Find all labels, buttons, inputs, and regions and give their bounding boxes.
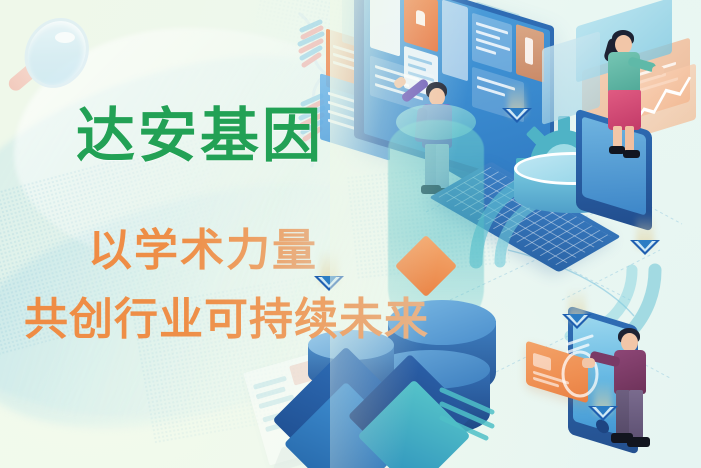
- figure-leg-left: [616, 390, 630, 436]
- tagline-line-2: 共创行业可持续未来: [24, 283, 429, 347]
- chevron-marker-icon: [502, 100, 532, 134]
- chevron-marker-icon: [630, 232, 660, 266]
- man-with-phone-figure: [606, 328, 660, 452]
- figure-shoe-right: [623, 150, 640, 158]
- woman-with-screens-figure: [598, 30, 654, 158]
- chevron-marker-icon: [562, 306, 592, 340]
- figure-leg-right: [629, 390, 643, 438]
- isometric-illustration: [330, 0, 701, 468]
- motion-streaks: [438, 382, 528, 442]
- promotional-banner: 达安基因 以学术力量 共创行业可持续未来: [0, 0, 701, 468]
- chevron-marker-icon: [588, 398, 618, 432]
- page-title: 达安基因: [76, 104, 324, 168]
- figure-torso: [614, 350, 646, 394]
- figure-hand: [652, 66, 664, 75]
- text-block: 达安基因 以学术力量 共创行业可持续未来: [0, 0, 360, 468]
- figure-hand: [582, 358, 595, 368]
- teal-column-top: [396, 104, 476, 140]
- figure-skirt: [608, 90, 641, 130]
- figure-leg-right: [625, 126, 634, 152]
- figure-shoe-right: [627, 437, 650, 447]
- tagline-line-1: 以学术力量: [88, 214, 318, 278]
